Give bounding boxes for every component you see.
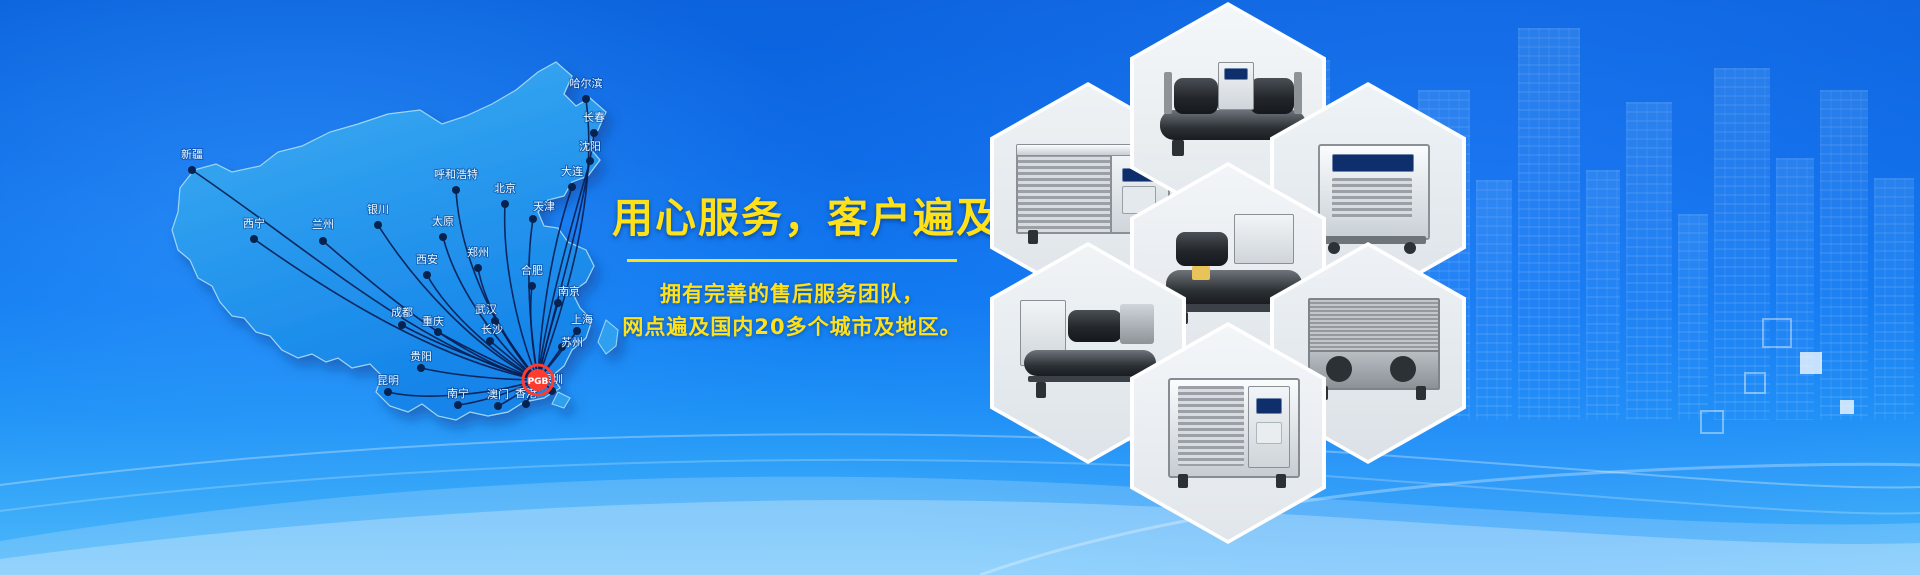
city-dot bbox=[434, 328, 442, 336]
city-label: 新疆 bbox=[181, 147, 203, 161]
city-label: 银川 bbox=[367, 202, 389, 216]
city-dot bbox=[250, 235, 258, 243]
banner-headline: 用心服务，客户遍及全国 bbox=[612, 196, 972, 241]
hub-marker-guangzhou[interactable]: PGB bbox=[523, 365, 553, 395]
city-label: 南宁 bbox=[447, 386, 469, 400]
city-dot bbox=[501, 200, 509, 208]
city-dot bbox=[454, 401, 462, 409]
city-dot bbox=[568, 183, 576, 191]
city-label: 昆明 bbox=[377, 374, 399, 387]
square-decoration bbox=[1762, 318, 1792, 348]
city-dot bbox=[486, 337, 494, 345]
city-marker-7[interactable]: 天津 bbox=[529, 200, 555, 223]
city-dot bbox=[586, 157, 594, 165]
banner-subtitle-line-2: 网点遍及国内20多个城市及地区。 bbox=[612, 311, 972, 344]
square-decoration bbox=[1840, 400, 1854, 414]
square-decoration bbox=[1700, 410, 1724, 434]
banner-subtitle-line-1: 拥有完善的售后服务团队， bbox=[612, 278, 972, 311]
promotional-banner: 新疆西宁兰州银川呼和浩特太原北京天津大连沈阳长春哈尔滨西安郑州合肥南京上海苏州武… bbox=[0, 0, 1920, 575]
city-label: 贵阳 bbox=[410, 350, 432, 363]
hub-mark-label: PGB bbox=[528, 377, 549, 387]
city-label: 郑州 bbox=[467, 245, 489, 259]
china-service-network-map: 新疆西宁兰州银川呼和浩特太原北京天津大连沈阳长春哈尔滨西安郑州合肥南京上海苏州武… bbox=[120, 20, 680, 440]
city-dot bbox=[474, 264, 482, 272]
city-label: 长沙 bbox=[481, 323, 503, 336]
city-label: 大连 bbox=[561, 164, 583, 178]
banner-copy-block: 用心服务，客户遍及全国 拥有完善的售后服务团队， 网点遍及国内20多个城市及地区… bbox=[612, 196, 972, 343]
city-marker-11[interactable]: 哈尔滨 bbox=[570, 76, 603, 103]
city-label: 呼和浩特 bbox=[434, 167, 478, 181]
city-label: 长春 bbox=[583, 111, 605, 124]
square-decoration bbox=[1800, 352, 1822, 374]
city-marker-17[interactable]: 苏州 bbox=[558, 336, 583, 351]
city-dot bbox=[384, 388, 392, 396]
city-label: 太原 bbox=[432, 215, 454, 228]
city-dot bbox=[374, 221, 382, 229]
city-label: 苏州 bbox=[561, 336, 583, 349]
city-label: 天津 bbox=[533, 200, 555, 213]
city-label: 上海 bbox=[571, 312, 593, 326]
city-dot bbox=[529, 215, 537, 223]
city-dot bbox=[417, 364, 425, 372]
city-dot bbox=[423, 271, 431, 279]
city-label: 西安 bbox=[416, 252, 438, 266]
city-label: 武汉 bbox=[475, 303, 497, 316]
city-label: 澳门 bbox=[487, 387, 509, 401]
city-label: 南京 bbox=[558, 284, 580, 298]
product-hex-gallery bbox=[960, 0, 1560, 470]
city-label: 哈尔滨 bbox=[570, 76, 603, 90]
city-label: 西宁 bbox=[243, 216, 265, 230]
city-dot bbox=[188, 166, 196, 174]
city-dot bbox=[528, 282, 536, 290]
city-dot bbox=[554, 299, 562, 307]
city-dot bbox=[590, 129, 598, 137]
map-landmass bbox=[172, 62, 618, 420]
city-label: 成都 bbox=[391, 306, 413, 319]
city-dot bbox=[494, 402, 502, 410]
city-dot bbox=[573, 327, 581, 335]
city-dot bbox=[319, 237, 327, 245]
city-label: 北京 bbox=[494, 181, 516, 195]
headline-divider bbox=[627, 259, 957, 262]
city-label: 合肥 bbox=[521, 263, 543, 277]
city-label: 重庆 bbox=[422, 314, 444, 328]
city-label: 兰州 bbox=[312, 218, 334, 231]
city-dot bbox=[439, 233, 447, 241]
city-label: 沈阳 bbox=[579, 139, 601, 153]
city-dot bbox=[582, 95, 590, 103]
city-dot bbox=[398, 321, 406, 329]
square-decoration bbox=[1744, 372, 1766, 394]
city-dot bbox=[522, 400, 530, 408]
city-dot bbox=[452, 186, 460, 194]
